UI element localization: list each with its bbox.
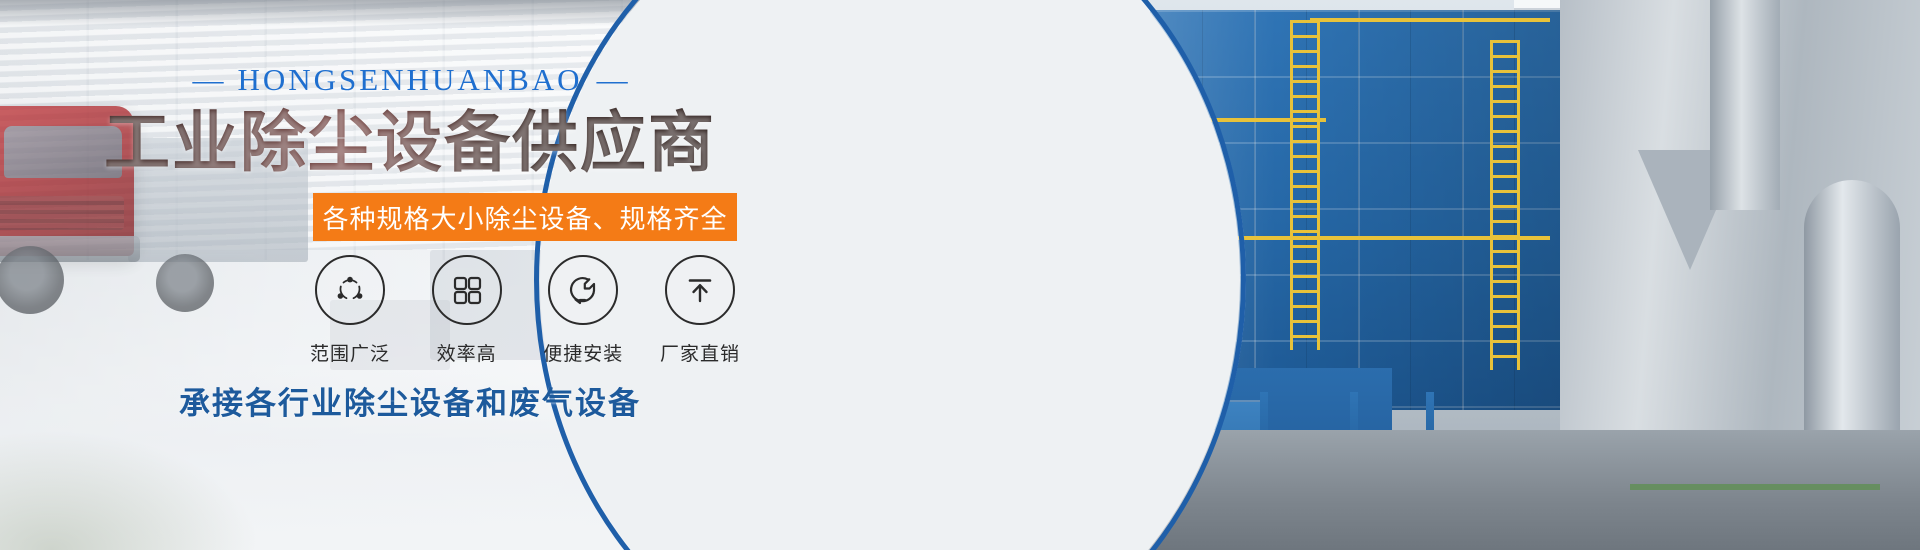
yellow-railing-3 (1310, 18, 1550, 22)
dash-left: — (178, 62, 237, 97)
share-nodes-icon (332, 272, 368, 308)
tagline: 承接各行业除尘设备和废气设备 (0, 378, 820, 423)
feature-item-install[interactable]: 便捷安装 (533, 255, 633, 366)
feature-icon-circle-2 (432, 255, 502, 325)
highlight-bar: 各种规格大小除尘设备、规格齐全 (313, 193, 737, 241)
yellow-ladder-2 (1290, 20, 1320, 350)
highlight-bar-text: 各种规格大小除尘设备、规格齐全 (322, 199, 727, 236)
feature-label-3: 便捷安装 (533, 339, 633, 366)
grid-four-squares-icon (450, 273, 484, 307)
feature-label-1: 范围广泛 (300, 339, 400, 366)
brand-kicker: —HONGSENHUANBAO— (0, 62, 820, 98)
arrow-up-bar-icon (682, 272, 718, 308)
feature-icon-circle-3 (548, 255, 618, 325)
steel-tank-upper (1710, 0, 1780, 210)
hero-banner: —HONGSENHUANBAO— 工业除尘设备供应商 各种规格大小除尘设备、规格… (0, 0, 1920, 550)
page-title: 工业除尘设备供应商 (0, 105, 820, 181)
brand-kicker-text: HONGSENHUANBAO (237, 62, 582, 97)
feature-icon-circle-1 (315, 255, 385, 325)
wrench-rotate-icon (564, 271, 602, 309)
feature-item-factory-direct[interactable]: 厂家直销 (650, 255, 750, 366)
feature-label-4: 厂家直销 (650, 339, 750, 366)
yellow-ladder-3 (1490, 40, 1520, 370)
green-railing (1630, 484, 1880, 490)
feature-label-2: 效率高 (417, 339, 517, 366)
banner-content: —HONGSENHUANBAO— 工业除尘设备供应商 各种规格大小除尘设备、规格… (0, 0, 820, 550)
feature-list: 范围广泛 效率高 (300, 255, 750, 366)
feature-icon-circle-4 (665, 255, 735, 325)
dash-right: — (583, 62, 642, 97)
feature-item-efficiency[interactable]: 效率高 (417, 255, 517, 366)
feature-item-range[interactable]: 范围广泛 (300, 255, 400, 366)
